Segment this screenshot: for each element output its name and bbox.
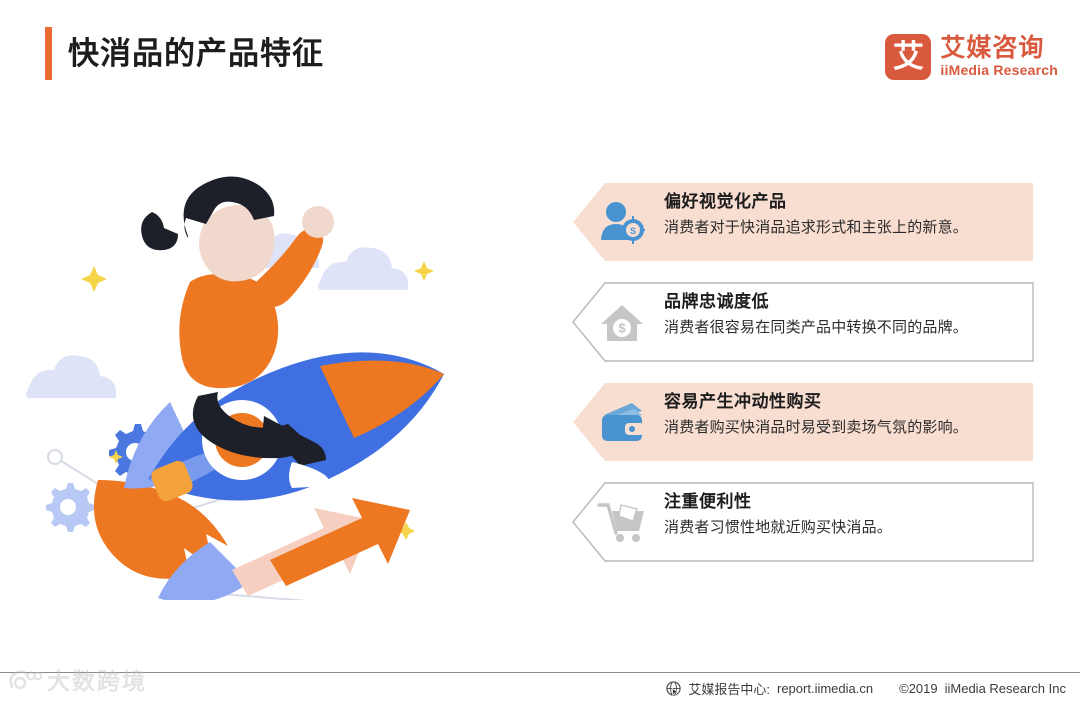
footer-company: iiMedia Research Inc: [945, 681, 1066, 696]
feature-card-convenience[interactable]: 注重便利性 消费者习惯性地就近购买快消品。: [572, 482, 1034, 562]
footer-url[interactable]: report.iimedia.cn: [777, 681, 873, 696]
footer-divider: [0, 672, 1080, 673]
iimedia-logo-icon: 艾: [885, 34, 931, 80]
title-accent-bar: [45, 27, 52, 80]
card-text: 品牌忠诚度低 消费者很容易在同类产品中转换不同的品牌。: [664, 289, 1026, 341]
watermark: 大数跨境: [8, 663, 147, 699]
card-title: 容易产生冲动性购买: [664, 389, 1026, 415]
card-body: 消费者习惯性地就近购买快消品。: [664, 515, 1026, 541]
card-text: 注重便利性 消费者习惯性地就近购买快消品。: [664, 489, 1026, 541]
feature-card-preference[interactable]: S 偏好视觉化产品 消费者对于快消品追求形式和主张上的新意。: [572, 182, 1034, 262]
card-text: 偏好视觉化产品 消费者对于快消品追求形式和主张上的新意。: [664, 189, 1026, 241]
brand-name-cn: 艾媒咨询: [940, 35, 1058, 62]
footer-report-center: 艾媒报告中心:: [688, 679, 770, 698]
card-body: 消费者对于快消品追求形式和主张上的新意。: [664, 215, 1026, 241]
shopping-cart-icon: [595, 496, 649, 548]
page-header: 快消品的产品特征 艾 艾媒咨询 iiMedia Research: [0, 0, 1080, 110]
card-body: 消费者购买快消品时易受到卖场气氛的影响。: [664, 415, 1026, 441]
svg-text:S: S: [630, 226, 636, 236]
person-hair-tail: [141, 212, 178, 250]
watermark-text: 大数跨境: [47, 666, 147, 696]
card-title: 品牌忠诚度低: [664, 289, 1026, 315]
brand-logo: 艾 艾媒咨询 iiMedia Research: [885, 28, 1058, 86]
house-dollar-icon: $: [595, 296, 649, 348]
card-title: 偏好视觉化产品: [664, 189, 1026, 215]
footer-copyright: ©2019: [899, 681, 938, 696]
card-text: 容易产生冲动性购买 消费者购买快消品时易受到卖场气氛的影响。: [664, 389, 1026, 441]
page-title: 快消品的产品特征: [68, 29, 324, 79]
dashukuajing-logo-icon: [8, 669, 42, 693]
brand-name-en: iiMedia Research: [940, 62, 1058, 79]
brand-logo-text: 艾媒咨询 iiMedia Research: [940, 35, 1058, 79]
user-coin-icon: S: [595, 196, 649, 248]
globe-cursor-icon: [666, 681, 681, 696]
growth-arrow: [232, 498, 410, 596]
person-fist: [302, 206, 334, 238]
feature-card-impulse[interactable]: 容易产生冲动性购买 消费者购买快消品时易受到卖场气氛的影响。: [572, 382, 1034, 462]
card-title: 注重便利性: [664, 489, 1026, 515]
card-body: 消费者很容易在同类产品中转换不同的品牌。: [664, 315, 1026, 341]
page-footer: 艾媒报告中心: report.iimedia.cn ©2019 iiMedia …: [666, 676, 1066, 700]
feature-card-loyalty[interactable]: $ 品牌忠诚度低 消费者很容易在同类产品中转换不同的品牌。: [572, 282, 1034, 362]
wallet-icon: [595, 396, 649, 448]
feature-card-list: S 偏好视觉化产品 消费者对于快消品追求形式和主张上的新意。 $ 品牌忠诚度: [572, 182, 1034, 582]
person-riding-rocket-illustration: [20, 150, 560, 600]
svg-text:$: $: [618, 321, 626, 336]
